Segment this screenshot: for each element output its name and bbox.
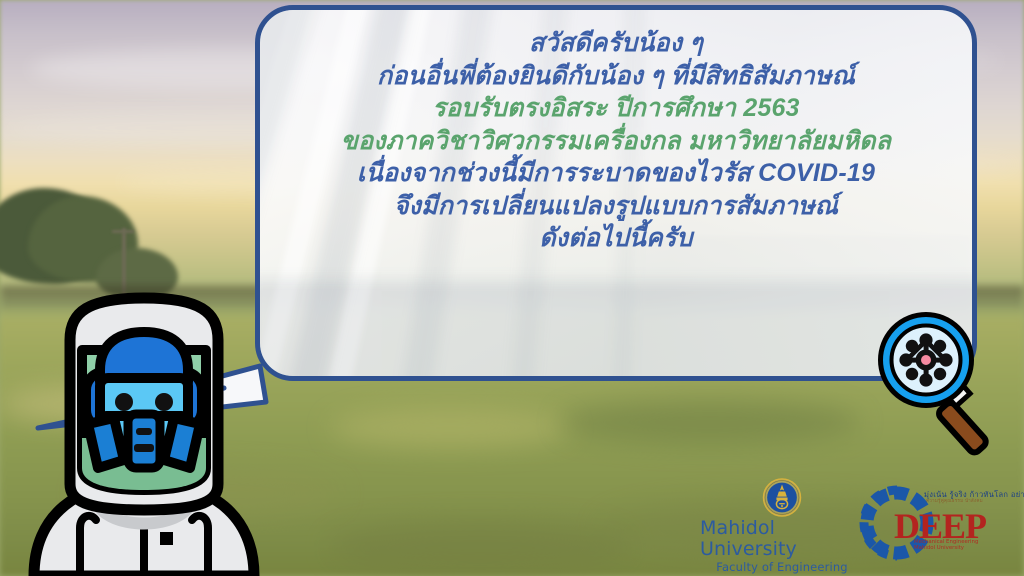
logo-row: Mahidol University Faculty of Engineerin… <box>700 478 1024 576</box>
mahidol-university-logo: Mahidol University Faculty of Engineerin… <box>700 478 864 574</box>
speech-bubble <box>255 5 977 381</box>
deep-subline-1: Mechanical Engineering <box>914 539 978 545</box>
field-texture <box>330 408 570 448</box>
ground-shade <box>255 278 977 381</box>
utility-pole-arm <box>112 230 134 233</box>
mahidol-faculty-name: Faculty of Engineering <box>716 560 847 574</box>
field-texture <box>560 400 860 444</box>
deep-tagline-thai-small: ความรู้คู่คุณธรรม นำสังคม <box>926 498 983 505</box>
deep-subline-2: Mahidol University <box>914 545 964 551</box>
field-texture <box>330 520 630 576</box>
mahidol-emblem-icon <box>761 478 803 517</box>
magnifying-glass-virus-icon <box>874 312 1012 460</box>
mahidol-university-name: Mahidol University <box>700 518 864 560</box>
deep-subline: Mechanical Engineering Mahidol Universit… <box>914 539 978 552</box>
deep-logo: มุ่งเน้น รู้จริง ก้าวทันโลก อย่างมืออาชี… <box>858 482 1024 560</box>
person-in-hazmat-suit-icon <box>18 288 270 576</box>
